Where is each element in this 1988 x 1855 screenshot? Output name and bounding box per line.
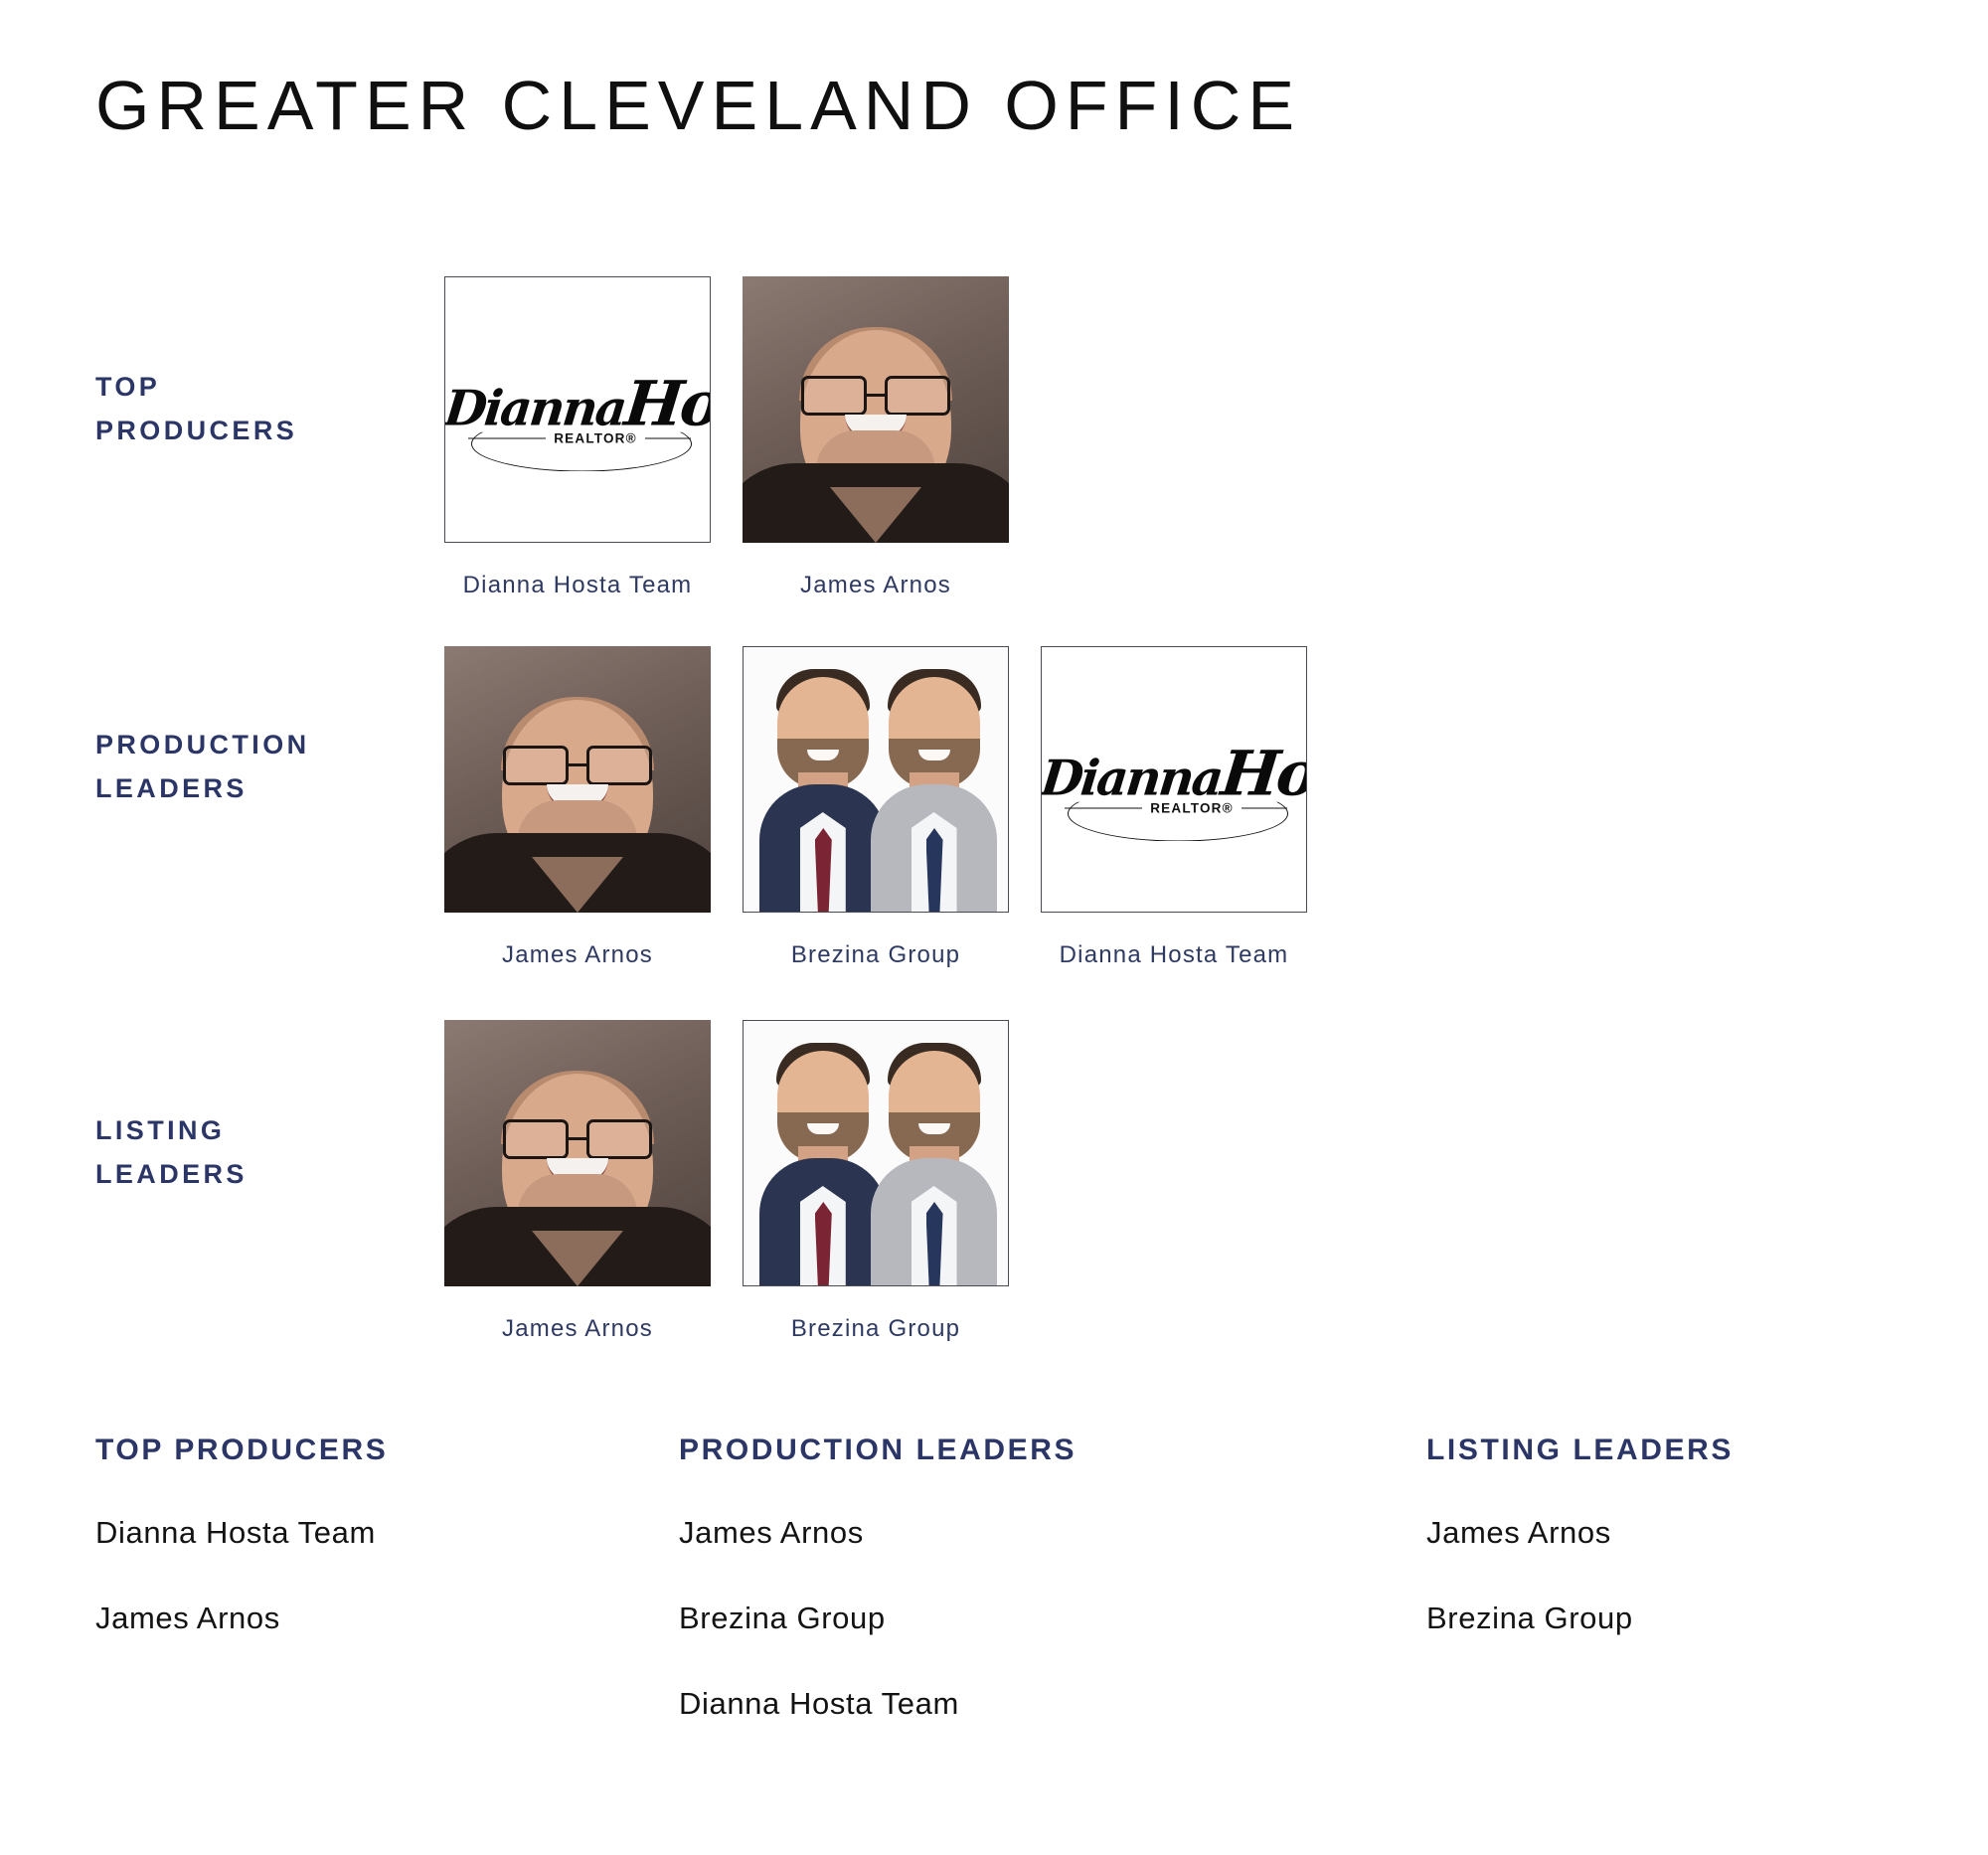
logo-swoosh-icon	[471, 416, 692, 471]
james-arnos-photo	[444, 1020, 711, 1286]
row-label-line-1: TOP	[95, 366, 423, 410]
lens-right	[586, 746, 652, 785]
card-brezina-group[interactable]: Brezina Group	[741, 646, 1011, 972]
summary-column-listing-leaders: LISTING LEADERS James Arnos Brezina Grou…	[1426, 1433, 1734, 1686]
logo-swoosh-icon	[1068, 785, 1288, 841]
logo-rule-right	[1242, 807, 1287, 808]
logo-rule-right	[645, 437, 691, 438]
list-item: Dianna Hosta Team	[679, 1686, 1077, 1722]
logo-tagline: REALTOR®	[447, 431, 711, 446]
summary-column-title: PRODUCTION LEADERS	[679, 1433, 1077, 1467]
smile-shape	[918, 750, 950, 760]
row-label-line-1: PRODUCTION	[95, 724, 423, 767]
brezina-group-photo	[744, 1021, 1008, 1285]
tie-shape	[926, 1202, 943, 1285]
card-caption: Brezina Group	[743, 1312, 1009, 1346]
row-label-line-1: LISTING	[95, 1109, 423, 1153]
headshot-thumbnail[interactable]	[743, 1020, 1009, 1286]
logo-script-text: DiannaHosta	[444, 374, 711, 435]
summary-column-title: LISTING LEADERS	[1426, 1433, 1734, 1467]
bridge	[867, 394, 885, 397]
card-brezina-group[interactable]: Brezina Group	[741, 1020, 1011, 1346]
tie-shape	[815, 828, 832, 912]
card-dianna-hosta-team[interactable]: DiannaHosta REALTOR® Dianna Hosta Team	[442, 276, 713, 602]
headshot-thumbnail[interactable]	[444, 1020, 711, 1286]
card-caption: Dianna Hosta Team	[444, 569, 711, 602]
tie-shape	[815, 1202, 832, 1285]
row-label-production-leaders: PRODUCTION LEADERS	[95, 724, 423, 810]
logo-tagline-text: REALTOR®	[554, 431, 637, 446]
row-label-top-producers: TOP PRODUCERS	[95, 366, 423, 452]
headshot-thumbnail[interactable]	[444, 646, 711, 913]
summary-column-production-leaders: PRODUCTION LEADERS James Arnos Brezina G…	[679, 1433, 1077, 1771]
card-james-arnos[interactable]: James Arnos	[442, 646, 713, 972]
list-item: James Arnos	[95, 1601, 388, 1636]
summary-column-list: James Arnos Brezina Group	[1426, 1515, 1734, 1636]
list-item: Brezina Group	[1426, 1601, 1734, 1636]
logo-script-text: DiannaHosta	[1041, 744, 1307, 805]
glasses-icon	[503, 1121, 652, 1157]
logo-rule-left	[1065, 807, 1142, 808]
card-caption: James Arnos	[444, 1312, 711, 1346]
card-caption: Brezina Group	[743, 938, 1009, 972]
summary-column-title: TOP PRODUCERS	[95, 1433, 388, 1467]
bridge	[569, 763, 586, 766]
summary-column-top-producers: TOP PRODUCERS Dianna Hosta Team James Ar…	[95, 1433, 388, 1686]
list-item: Brezina Group	[679, 1601, 1077, 1636]
row-label-line-2: LEADERS	[95, 767, 423, 811]
row-cards: DiannaHosta REALTOR® Dianna Hosta Team	[442, 276, 1011, 602]
smile-shape	[918, 1123, 950, 1134]
james-arnos-photo	[444, 646, 711, 913]
glasses-icon	[801, 378, 950, 414]
logo-thumbnail[interactable]: DiannaHosta REALTOR®	[1041, 646, 1307, 913]
bridge	[569, 1137, 586, 1140]
lens-left	[503, 746, 569, 785]
brezina-group-photo	[744, 647, 1008, 912]
card-caption: James Arnos	[444, 938, 711, 972]
james-arnos-photo	[743, 276, 1009, 543]
dianna-hosta-logo-icon: DiannaHosta REALTOR®	[445, 374, 710, 446]
card-caption: Dianna Hosta Team	[1041, 938, 1307, 972]
summary-column-list: James Arnos Brezina Group Dianna Hosta T…	[679, 1515, 1077, 1722]
headshot-thumbnail[interactable]	[743, 646, 1009, 913]
row-cards: James Arnos	[442, 1020, 1011, 1346]
dianna-hosta-logo-icon: DiannaHosta REALTOR®	[1042, 744, 1306, 816]
card-james-arnos[interactable]: James Arnos	[442, 1020, 713, 1346]
card-james-arnos[interactable]: James Arnos	[741, 276, 1011, 602]
lens-right	[885, 376, 950, 416]
list-item: James Arnos	[1426, 1515, 1734, 1551]
summary-column-list: Dianna Hosta Team James Arnos	[95, 1515, 388, 1636]
row-cards: James Arnos	[442, 646, 1309, 972]
list-item: James Arnos	[679, 1515, 1077, 1551]
logo-tagline-text: REALTOR®	[1150, 801, 1234, 816]
glasses-icon	[503, 748, 652, 783]
tie-shape	[926, 828, 943, 912]
lens-left	[801, 376, 867, 416]
row-label-listing-leaders: LISTING LEADERS	[95, 1109, 423, 1196]
logo-tagline: REALTOR®	[1044, 801, 1307, 816]
row-label-line-2: PRODUCERS	[95, 410, 423, 453]
lens-right	[586, 1119, 652, 1159]
lens-left	[503, 1119, 569, 1159]
card-caption: James Arnos	[743, 569, 1009, 602]
row-label-line-2: LEADERS	[95, 1153, 423, 1197]
logo-rule-left	[468, 437, 546, 438]
card-dianna-hosta-team[interactable]: DiannaHosta REALTOR® Dianna Hosta Team	[1039, 646, 1309, 972]
page-title: GREATER CLEVELAND OFFICE	[95, 68, 1301, 144]
list-item: Dianna Hosta Team	[95, 1515, 388, 1551]
headshot-thumbnail[interactable]	[743, 276, 1009, 543]
logo-thumbnail[interactable]: DiannaHosta REALTOR®	[444, 276, 711, 543]
